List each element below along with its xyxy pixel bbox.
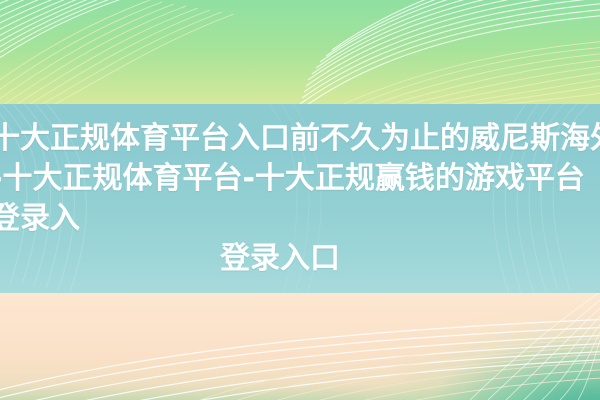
headline-line-3: 登录入口 <box>0 239 580 279</box>
headline-band: 十大正规体育平台入口前不久为止的威尼斯海外电影 -十大正规体育平台-十大正规赢钱… <box>0 104 600 293</box>
headline-line-2: -十大正规体育平台-十大正规赢钱的游戏平台 登录入 <box>0 159 600 239</box>
headline-text-block: 十大正规体育平台入口前不久为止的威尼斯海外电影 -十大正规体育平台-十大正规赢钱… <box>0 119 600 279</box>
headline-line-1: 十大正规体育平台入口前不久为止的威尼斯海外电影 <box>0 119 600 159</box>
banner-image: 十大正规体育平台入口前不久为止的威尼斯海外电影 -十大正规体育平台-十大正规赢钱… <box>0 0 600 400</box>
